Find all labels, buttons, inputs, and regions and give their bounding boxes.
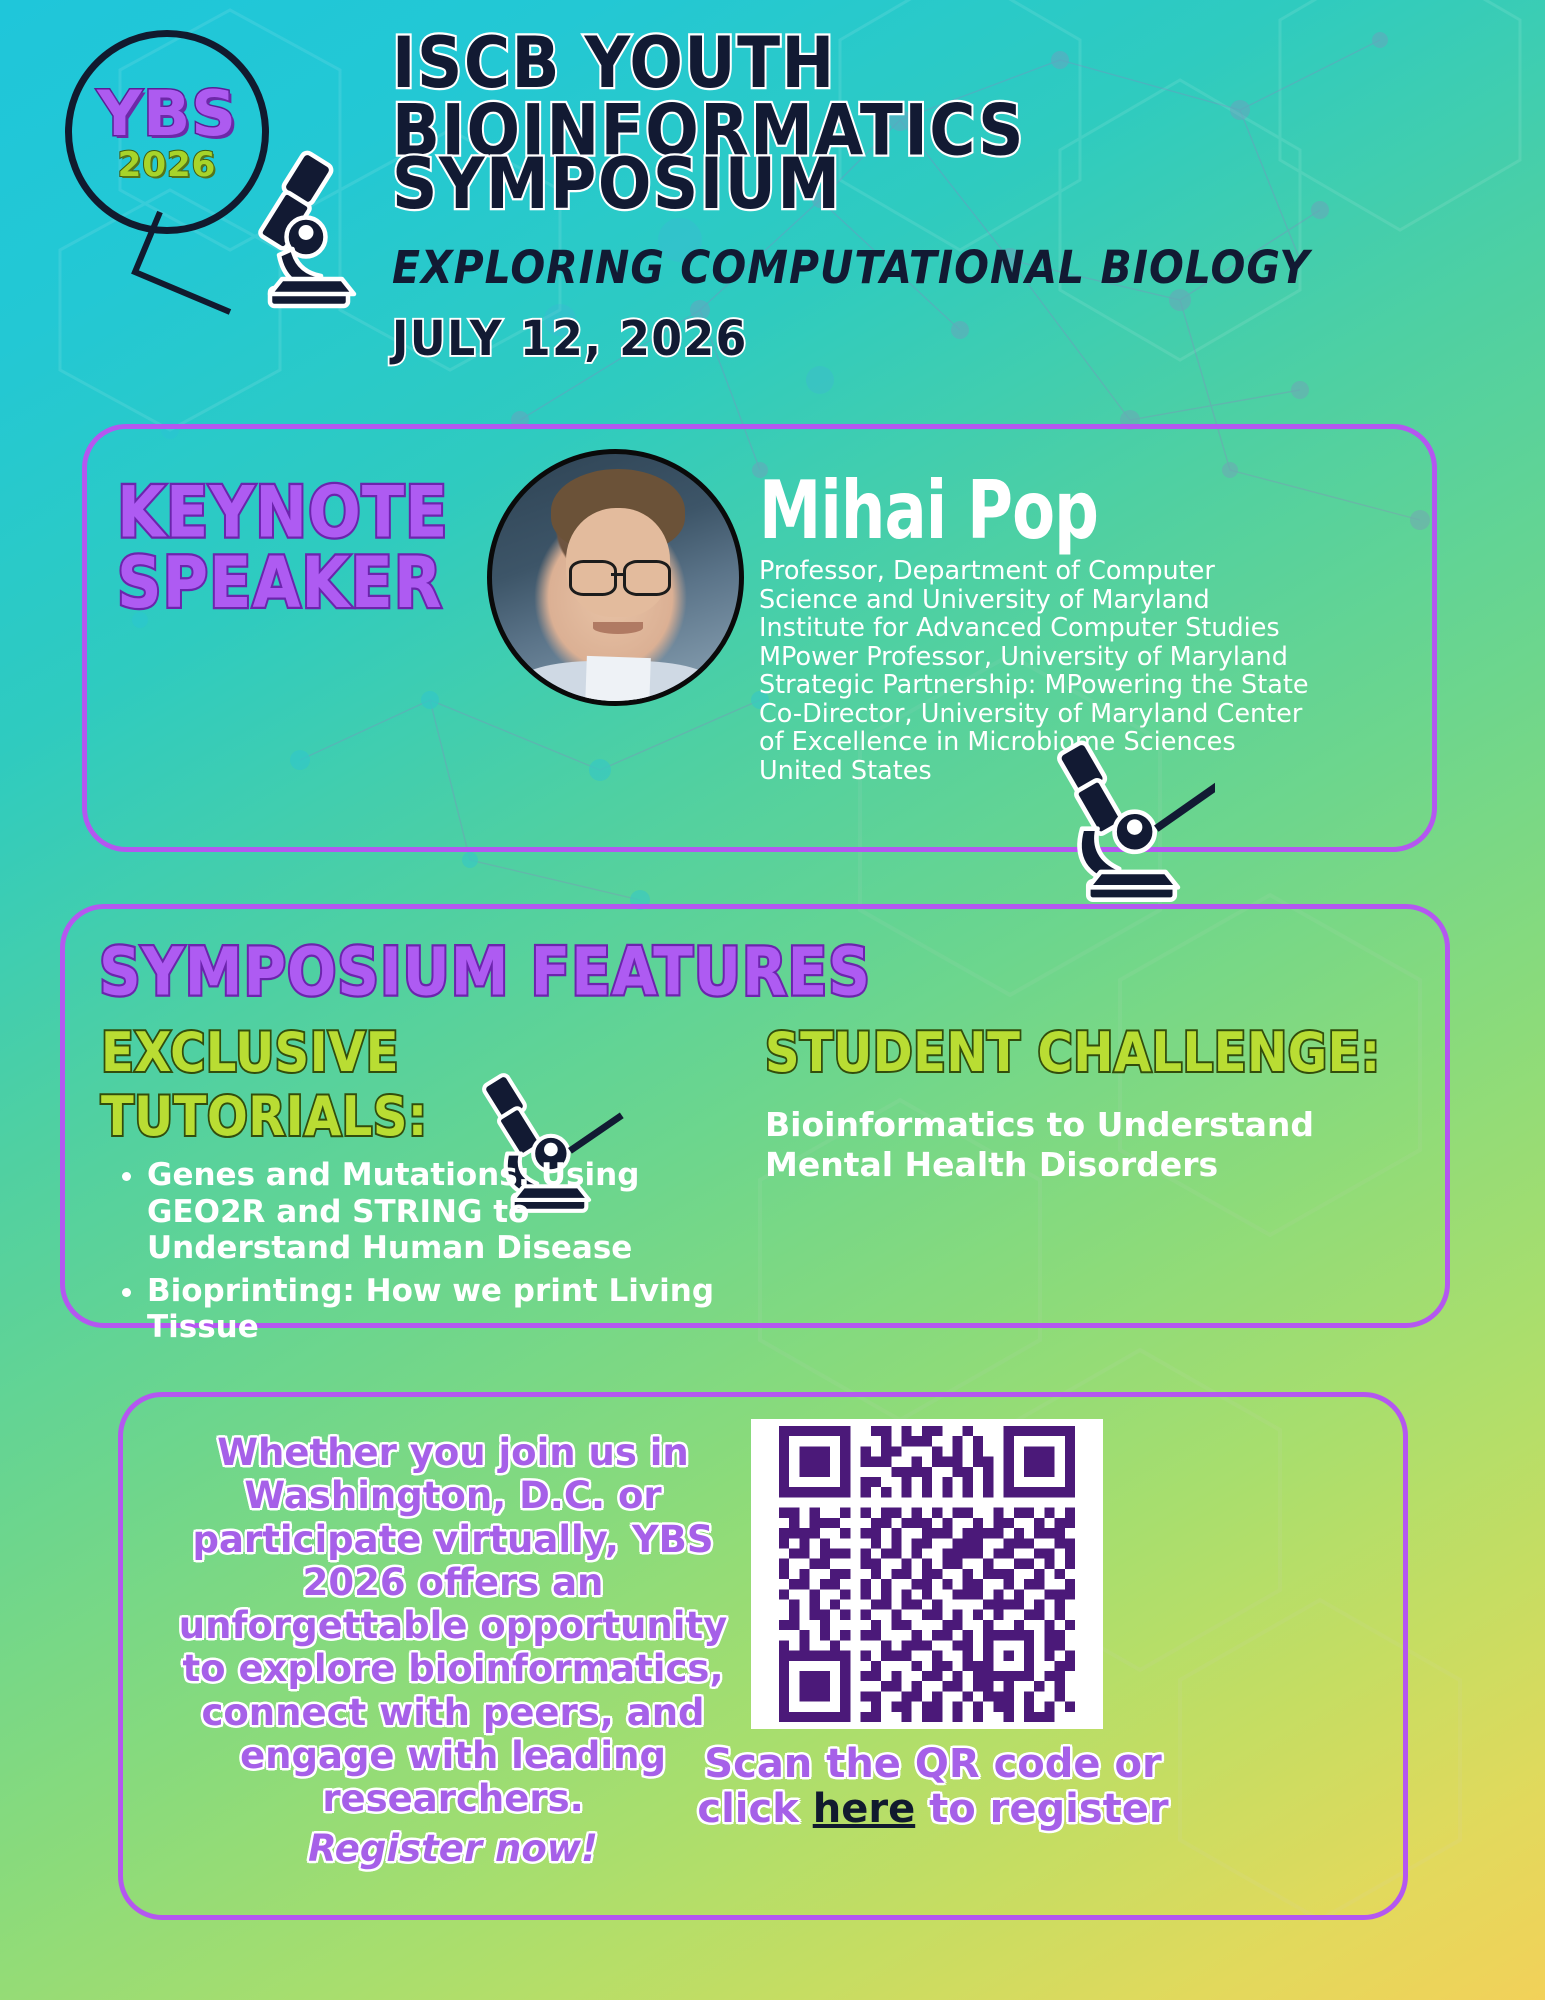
logo-year: 2026 — [118, 145, 217, 185]
event-date: JULY 12, 2026 — [392, 311, 1482, 367]
poster-header: YBS 2026 ISCB YOUTH BIOINFORMATICS SYMPO… — [0, 0, 1545, 330]
features-title: SYMPOSIUM FEATURES — [99, 933, 871, 1011]
tutorials-column: EXCLUSIVE TUTORIALS: Genes and Mutations… — [101, 1021, 741, 1352]
tutorials-list: Genes and Mutations: Using GEO2R and STR… — [101, 1157, 741, 1346]
register-link[interactable]: here — [813, 1786, 915, 1832]
register-body-text: Whether you join us in Washington, D.C. … — [179, 1431, 727, 1820]
register-body: Whether you join us in Washington, D.C. … — [153, 1431, 753, 1870]
qr-code-icon[interactable] — [751, 1419, 1103, 1729]
keynote-label: KEYNOTE SPEAKER — [117, 477, 497, 618]
challenge-column: STUDENT CHALLENGE: Bioinformatics to Und… — [765, 1021, 1415, 1184]
title-block: ISCB YOUTH BIOINFORMATICS SYMPOSIUM EXPL… — [392, 30, 1482, 362]
microscope-icon — [225, 150, 375, 315]
tutorials-heading: EXCLUSIVE TUTORIALS: — [101, 1021, 741, 1149]
scan-prefix: Scan the QR code or — [704, 1741, 1161, 1787]
page-title-line2: SYMPOSIUM — [392, 151, 1482, 219]
list-item: Bioprinting: How we print Living Tissue — [147, 1273, 741, 1346]
scan-suffix: to register — [915, 1786, 1168, 1832]
poster-canvas: YBS 2026 ISCB YOUTH BIOINFORMATICS SYMPO… — [0, 0, 1545, 2000]
avatar — [487, 449, 744, 706]
challenge-heading: STUDENT CHALLENGE: — [765, 1021, 1415, 1085]
speaker-name: Mihai Pop — [759, 465, 1098, 558]
microscope-icon — [1045, 739, 1215, 909]
register-cta: Register now! — [153, 1827, 753, 1870]
register-card: Whether you join us in Washington, D.C. … — [118, 1392, 1408, 1920]
keynote-card: KEYNOTE SPEAKER Mihai Pop — [82, 424, 1437, 852]
challenge-text: Bioinformatics to Understand Mental Heal… — [765, 1105, 1415, 1184]
features-card: SYMPOSIUM FEATURES EXCLUSIVE TUTORIALS: … — [60, 904, 1450, 1328]
tagline: EXPLORING COMPUTATIONAL BIOLOGY — [392, 241, 1482, 294]
scan-instruction: Scan the QR code or click here to regist… — [683, 1742, 1183, 1832]
list-item: Genes and Mutations: Using GEO2R and STR… — [147, 1157, 741, 1267]
scan-click-text: click — [697, 1786, 812, 1832]
logo-acronym: YBS — [97, 85, 237, 144]
